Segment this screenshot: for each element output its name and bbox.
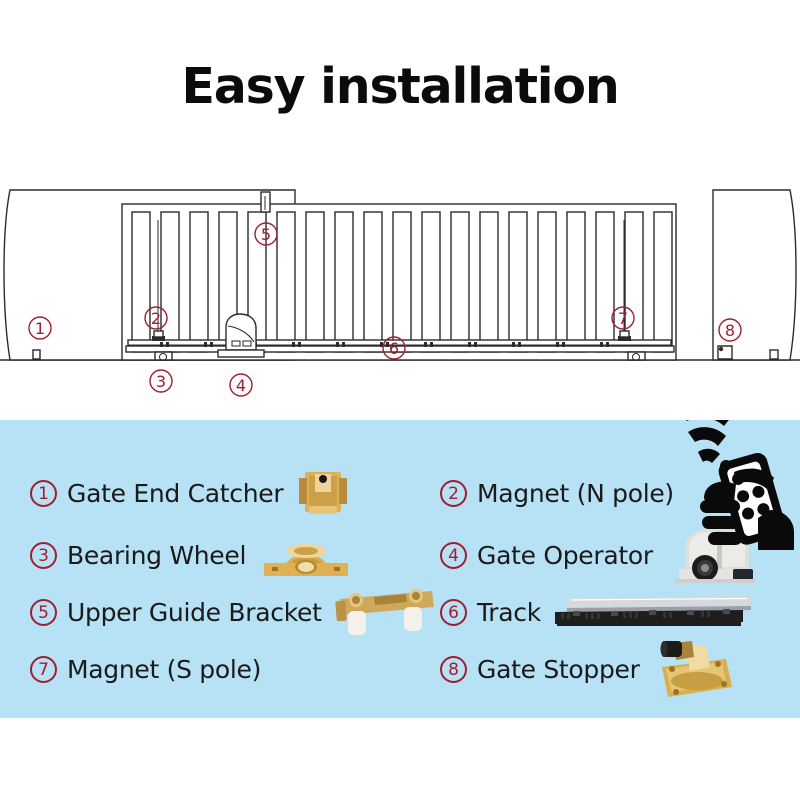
legend-label-7: Magnet (S pole) bbox=[67, 655, 261, 684]
legend-number-8: 8 bbox=[440, 656, 467, 683]
svg-text:8: 8 bbox=[725, 321, 735, 340]
svg-text:7: 7 bbox=[618, 309, 628, 328]
legend-item-magnet-s-pole: 7 Magnet (S pole) bbox=[30, 642, 261, 696]
legend-label-6: Track bbox=[477, 598, 541, 627]
legend-item-magnet-n-pole: 2 Magnet (N pole) bbox=[440, 466, 674, 520]
legend-label-4: Gate Operator bbox=[477, 541, 653, 570]
legend-number-7: 7 bbox=[30, 656, 57, 683]
legend-item-upper-guide-bracket: 5 Upper Guide Bracket bbox=[30, 585, 438, 639]
gate-stopper-photo bbox=[652, 637, 738, 701]
callout-4: 4 bbox=[230, 374, 252, 396]
legend-number-2: 2 bbox=[440, 480, 467, 507]
legend-label-1: Gate End Catcher bbox=[67, 479, 283, 508]
svg-text:5: 5 bbox=[261, 225, 271, 244]
legend-number-4: 4 bbox=[440, 542, 467, 569]
parts-legend-panel: 1 Gate End Catcher 3 Be bbox=[0, 420, 800, 718]
track-photo bbox=[553, 594, 753, 630]
legend-label-5: Upper Guide Bracket bbox=[67, 598, 322, 627]
sliding-gate-leaf bbox=[122, 204, 676, 360]
svg-text:3: 3 bbox=[156, 372, 166, 391]
product-feature-image: Easy installation .ln { fill:none; strok… bbox=[0, 0, 800, 800]
legend-item-bearing-wheel: 3 Bearing Wheel bbox=[30, 528, 354, 582]
legend-label-8: Gate Stopper bbox=[477, 655, 640, 684]
legend-label-3: Bearing Wheel bbox=[67, 541, 246, 570]
legend-number-5: 5 bbox=[30, 599, 57, 626]
legend-number-3: 3 bbox=[30, 542, 57, 569]
svg-text:6: 6 bbox=[389, 339, 399, 358]
svg-text:4: 4 bbox=[236, 376, 246, 395]
legend-number-1: 1 bbox=[30, 480, 57, 507]
callout-3: 3 bbox=[150, 370, 172, 392]
upper-guide-bracket-marker bbox=[261, 192, 270, 212]
installation-diagram: .ln { fill:none; stroke:#2b2b2b; stroke-… bbox=[0, 160, 800, 405]
upper-guide-bracket-photo bbox=[334, 585, 438, 639]
legend-item-gate-stopper: 8 Gate Stopper bbox=[440, 642, 738, 696]
legend-item-track: 6 Track bbox=[440, 585, 753, 639]
legend-item-gate-end-catcher: 1 Gate End Catcher bbox=[30, 466, 351, 520]
svg-text:1: 1 bbox=[35, 319, 45, 338]
bearing-wheel-photo bbox=[258, 529, 354, 581]
page-title: Easy installation bbox=[0, 62, 800, 111]
legend-number-6: 6 bbox=[440, 599, 467, 626]
gate-end-catcher-photo bbox=[295, 468, 351, 518]
legend-label-2: Magnet (N pole) bbox=[477, 479, 674, 508]
hand-holding-remote-control-icon bbox=[674, 420, 798, 550]
svg-text:2: 2 bbox=[151, 309, 161, 328]
